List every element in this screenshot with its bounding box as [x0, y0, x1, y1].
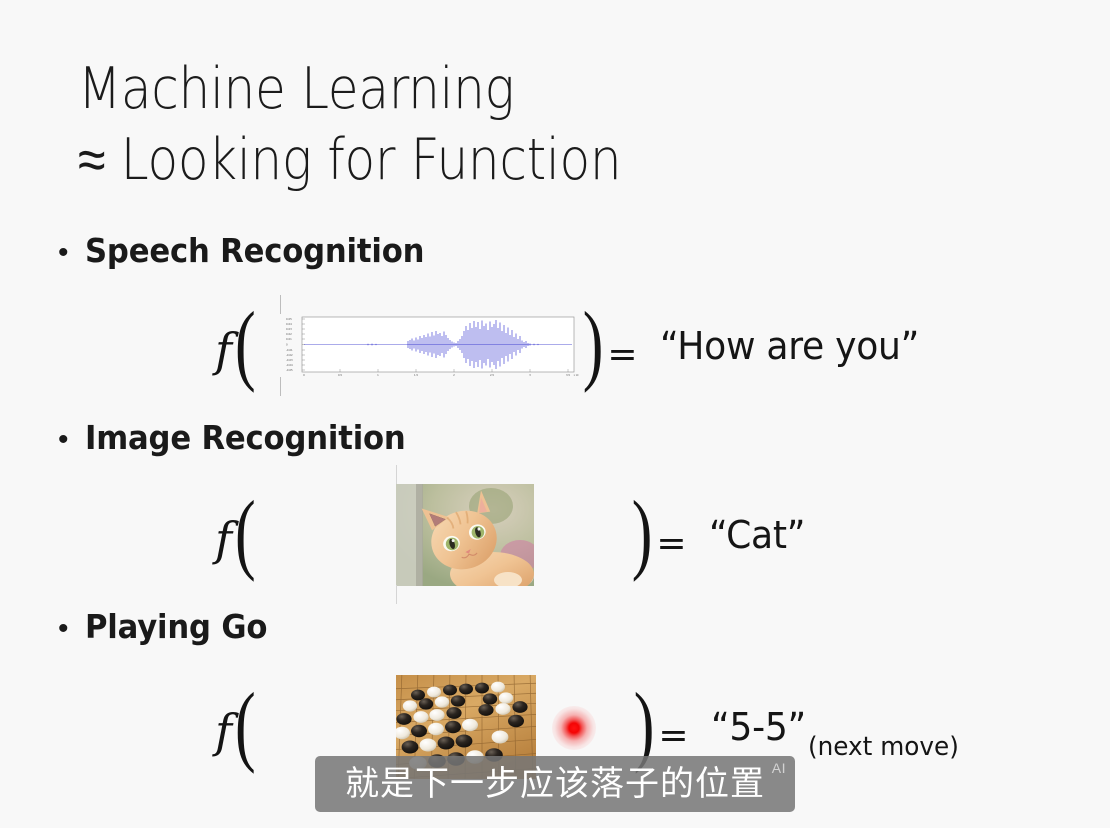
- cat-photo-frame: [396, 465, 534, 604]
- svg-text:0.5: 0.5: [338, 373, 342, 377]
- answer-go: “5-5”: [711, 705, 806, 749]
- equals-sign: =: [658, 715, 688, 756]
- svg-text:x 10: x 10: [573, 374, 578, 377]
- svg-text:2: 2: [453, 373, 455, 377]
- function-open-go: f(: [215, 696, 256, 758]
- bullet-label: Playing Go: [85, 610, 267, 643]
- slide-canvas: Machine Learning ≈ Looking for Function …: [0, 0, 1110, 828]
- answer-image: “Cat”: [709, 513, 805, 557]
- bullet-image-recognition: • Image Recognition: [58, 421, 429, 455]
- svg-text:0.04: 0.04: [286, 322, 292, 326]
- ai-watermark-label: AI: [772, 761, 786, 775]
- svg-text:0.01: 0.01: [286, 337, 292, 341]
- subtitle-bar: 就是下一步应该落子的位置 AI: [315, 756, 795, 812]
- bullet-speech-recognition: • Speech Recognition: [58, 234, 449, 268]
- svg-text:-0.03: -0.03: [286, 358, 293, 362]
- function-open-speech: f(: [215, 315, 256, 377]
- function-letter-f: f: [215, 512, 232, 566]
- svg-text:0: 0: [303, 373, 305, 377]
- function-open-image: f(: [215, 504, 256, 566]
- svg-text:0.03: 0.03: [286, 327, 292, 331]
- svg-text:3.5: 3.5: [566, 373, 570, 377]
- bullet-label: Image Recognition: [85, 421, 406, 454]
- waveform-svg: 0.050.04 0.030.02 0.010 -0.01-0.02 -0.03…: [280, 314, 583, 378]
- function-close-go: )=: [634, 696, 689, 758]
- svg-text:-0.01: -0.01: [286, 348, 293, 352]
- paren-open: (: [235, 489, 256, 579]
- bullet-playing-go: • Playing Go: [58, 610, 280, 644]
- function-row-speech: f( 0.050.04 0.030.02 0.010 -0.01-0.02 -0…: [215, 305, 932, 387]
- red-laser-dot-icon: [552, 706, 596, 750]
- svg-text:1.5: 1.5: [414, 373, 418, 377]
- bullet-dot-icon: •: [58, 425, 69, 455]
- slide-title: Machine Learning ≈ Looking for Function: [78, 52, 978, 198]
- function-close-speech: )=: [583, 315, 638, 377]
- answer-speech: “How are you”: [660, 324, 919, 368]
- function-close-image: )=: [632, 504, 687, 566]
- equals-sign: =: [656, 523, 686, 564]
- paren-close: ): [583, 300, 604, 390]
- svg-text:3: 3: [529, 373, 531, 377]
- cat-photo-svg: [396, 484, 534, 586]
- svg-text:1: 1: [377, 373, 379, 377]
- svg-text:0.05: 0.05: [286, 317, 292, 321]
- next-move-note: (next move): [808, 732, 959, 762]
- subtitle-text: 就是下一步应该落子的位置: [345, 767, 765, 801]
- svg-text:-0.04: -0.04: [286, 363, 293, 367]
- svg-text:2.5: 2.5: [490, 373, 494, 377]
- svg-text:-0.02: -0.02: [286, 353, 293, 357]
- svg-text:0: 0: [286, 343, 288, 347]
- title-line-2: ≈ Looking for Function: [78, 123, 870, 198]
- equals-sign: =: [607, 334, 637, 375]
- svg-text:-0.05: -0.05: [286, 368, 293, 372]
- bullet-dot-icon: •: [58, 614, 69, 644]
- function-row-image: f(: [215, 480, 810, 590]
- function-letter-f: f: [215, 323, 232, 377]
- waveform-frame: 0.050.04 0.030.02 0.010 -0.01-0.02 -0.03…: [280, 295, 583, 396]
- cat-photo: [396, 466, 534, 604]
- paren-close: ): [632, 489, 653, 579]
- function-letter-f: f: [215, 704, 232, 758]
- bullet-dot-icon: •: [58, 238, 69, 268]
- svg-text:0.02: 0.02: [286, 332, 292, 336]
- paren-open: (: [235, 681, 256, 771]
- speech-waveform-plot: 0.050.04 0.030.02 0.010 -0.01-0.02 -0.03…: [280, 296, 583, 396]
- title-line-1: Machine Learning: [78, 52, 870, 127]
- paren-open: (: [235, 300, 256, 390]
- bullet-label: Speech Recognition: [85, 234, 424, 267]
